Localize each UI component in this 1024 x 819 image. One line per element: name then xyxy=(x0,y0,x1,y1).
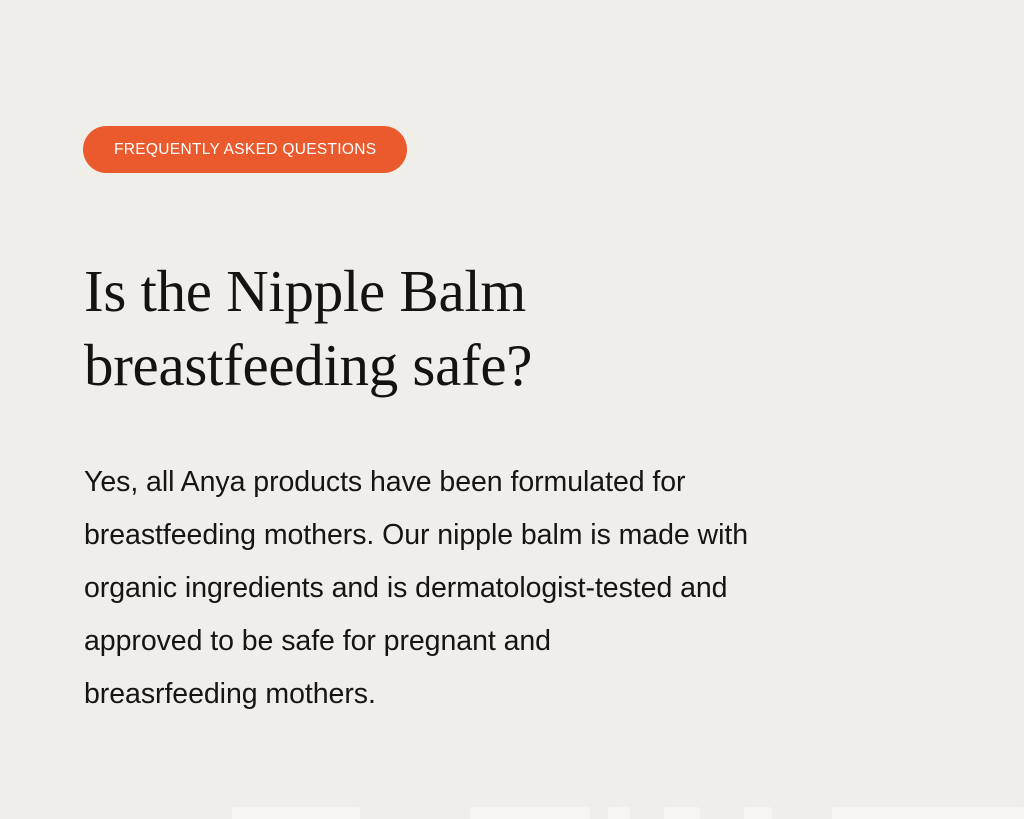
peek-block xyxy=(832,807,1024,819)
peek-block xyxy=(608,807,630,819)
faq-answer-line: organic ingredients and is dermatologist… xyxy=(84,562,884,615)
peek-block xyxy=(300,807,334,819)
faq-answer-text: Yes, all Anya products have been formula… xyxy=(84,456,884,721)
peek-block xyxy=(664,807,700,819)
faq-content-wrapper: FREQUENTLY ASKED QUESTIONS Is the Nipple… xyxy=(83,126,943,173)
faq-question-heading: Is the Nipple Balm breastfeeding safe? xyxy=(84,254,704,402)
faq-answer-line: Yes, all Anya products have been formula… xyxy=(84,456,884,509)
faq-question-line: Is the Nipple Balm xyxy=(84,258,526,324)
faq-answer-line: breastfeeding mothers. Our nipple balm i… xyxy=(84,509,884,562)
peek-block xyxy=(470,807,590,819)
peek-block xyxy=(232,807,360,819)
faq-answer-line: breasrfeeding mothers. xyxy=(84,668,884,721)
faq-section: FREQUENTLY ASKED QUESTIONS Is the Nipple… xyxy=(0,0,1024,819)
faq-eyebrow-badge: FREQUENTLY ASKED QUESTIONS xyxy=(83,126,407,173)
peek-block xyxy=(744,807,772,819)
faq-answer-line: approved to be safe for pregnant and xyxy=(84,615,884,668)
faq-question-line: breastfeeding safe? xyxy=(84,332,532,398)
next-section-peek xyxy=(0,807,1024,819)
